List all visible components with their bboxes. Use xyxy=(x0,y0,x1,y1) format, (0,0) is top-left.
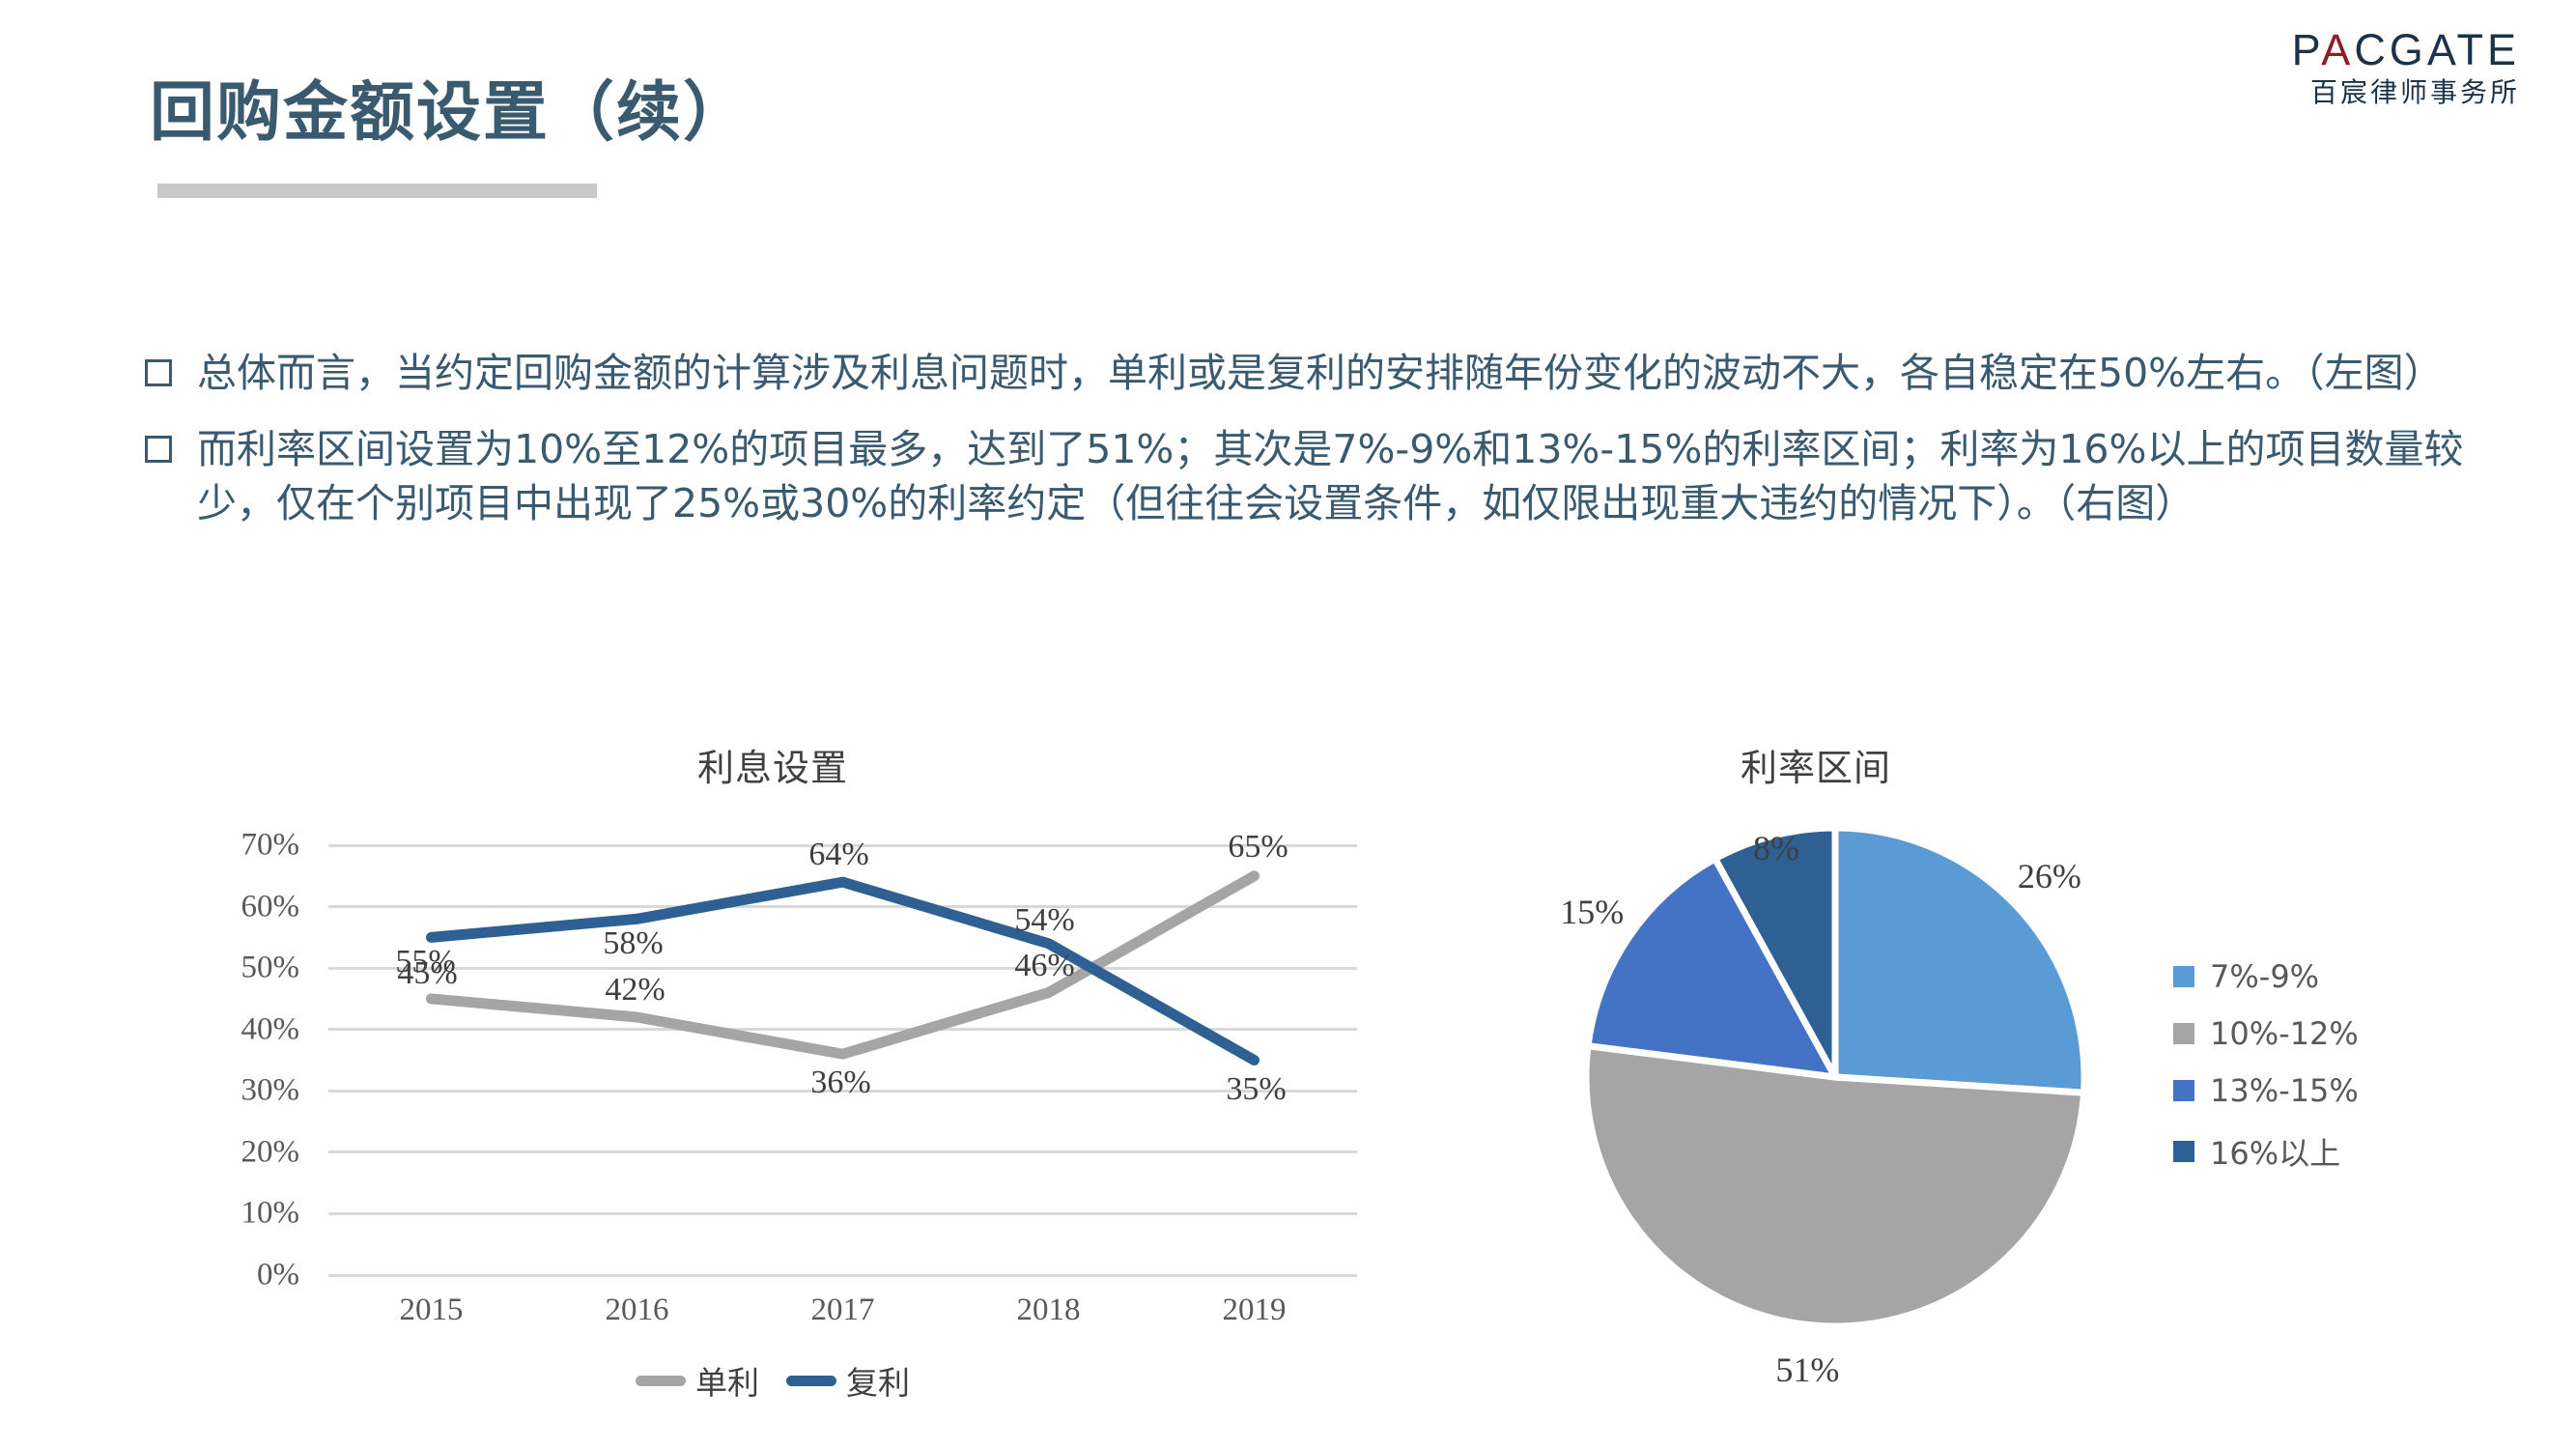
line-chart-series-svg xyxy=(328,845,1357,1275)
legend-label: 13%-15% xyxy=(2210,1072,2359,1109)
legend-item-7%-9%[interactable]: 7%-9% xyxy=(2173,958,2359,995)
logo-word-after: CGATE xyxy=(2354,25,2520,74)
pie-chart-plot-area: 26%51%15%8% xyxy=(1565,821,2106,1333)
bullet-item: 而利率区间设置为10%至12%的项目最多，达到了51%；其次是7%-9%和13%… xyxy=(145,422,2492,531)
pie-chart: 利率区间 26%51%15%8% 7%-9%10%-12%13%-15%16%以… xyxy=(1507,734,2492,1401)
y-axis-tick-label: 30% xyxy=(241,1073,300,1109)
y-axis-tick-label: 60% xyxy=(241,889,300,924)
legend-item-复利[interactable]: 复利 xyxy=(786,1357,910,1404)
legend-swatch-icon xyxy=(636,1376,686,1386)
legend-label: 复利 xyxy=(846,1357,910,1404)
y-axis-tick-label: 10% xyxy=(241,1196,300,1232)
pie-chart-legend: 7%-9%10%-12%13%-15%16%以上 xyxy=(2173,958,2359,1194)
hollow-square-bullet-icon xyxy=(145,436,172,463)
charts-area: 利息设置 0%10%20%30%40%50%60%70% 45%42%36%46… xyxy=(0,734,2576,1410)
legend-swatch-icon xyxy=(786,1376,836,1386)
legend-swatch-icon xyxy=(2173,966,2194,987)
x-axis-tick-label: 2015 xyxy=(400,1293,464,1328)
pie-slice-label: 51% xyxy=(1775,1350,1839,1390)
pie-slice-label: 26% xyxy=(2018,856,2081,896)
legend-label: 10%-12% xyxy=(2210,1015,2359,1052)
x-axis-tick-label: 2019 xyxy=(1223,1293,1287,1328)
y-axis-tick-label: 70% xyxy=(241,828,300,864)
line-series-复利 xyxy=(432,882,1255,1060)
x-axis-tick-label: 2018 xyxy=(1017,1293,1081,1328)
logo-chinese-name: 百宸律师事务所 xyxy=(2292,78,2520,108)
pie-slice-10%-12%[interactable] xyxy=(1586,1046,2083,1326)
line-chart-legend: 单利复利 xyxy=(174,1357,1372,1404)
pie-slice-label: 15% xyxy=(1560,892,1624,932)
legend-item-单利[interactable]: 单利 xyxy=(636,1357,759,1404)
pie-slice-label: 8% xyxy=(1753,828,1799,868)
logo-word-before: P xyxy=(2292,25,2322,74)
slide: PACGATE 百宸律师事务所 回购金额设置（续） 总体而言，当约定回购金额的计… xyxy=(0,0,2576,1449)
legend-swatch-icon xyxy=(2173,1141,2194,1162)
legend-label: 单利 xyxy=(695,1357,759,1404)
legend-item-16%以上[interactable]: 16%以上 xyxy=(2173,1129,2359,1174)
legend-swatch-icon xyxy=(2173,1023,2194,1044)
bullet-text: 总体而言，当约定回购金额的计算涉及利息问题时，单利或是复利的安排随年份变化的波动… xyxy=(197,346,2444,401)
logo-word-accent: A xyxy=(2321,25,2354,74)
legend-label: 7%-9% xyxy=(2210,958,2319,995)
x-axis-tick-label: 2016 xyxy=(606,1293,669,1328)
y-axis-tick-label: 0% xyxy=(257,1258,299,1293)
line-series-单利 xyxy=(432,876,1255,1054)
legend-item-13%-15%[interactable]: 13%-15% xyxy=(2173,1072,2359,1109)
x-axis-tick-label: 2017 xyxy=(811,1293,875,1328)
legend-item-10%-12%[interactable]: 10%-12% xyxy=(2173,1015,2359,1052)
logo-wordmark: PACGATE xyxy=(2292,27,2520,72)
pie-chart-title: 利率区间 xyxy=(1507,738,2125,791)
title-underline-bar xyxy=(157,184,597,198)
legend-swatch-icon xyxy=(2173,1080,2194,1101)
y-axis-tick-label: 50% xyxy=(241,951,300,986)
page-title: 回购金额设置（续） xyxy=(150,60,750,154)
line-chart-plot-area: 45%42%36%46%65%55%58%64%54%35% xyxy=(328,845,1357,1275)
body-content: 总体而言，当约定回购金额的计算涉及利息问题时，单利或是复利的安排随年份变化的波动… xyxy=(145,346,2492,553)
bullet-item: 总体而言，当约定回购金额的计算涉及利息问题时，单利或是复利的安排随年份变化的波动… xyxy=(145,346,2492,401)
y-axis-tick-label: 20% xyxy=(241,1134,300,1170)
company-logo: PACGATE 百宸律师事务所 xyxy=(2292,27,2520,108)
legend-label: 16%以上 xyxy=(2210,1129,2340,1174)
pie-chart-slices-svg xyxy=(1565,821,2106,1333)
bullet-text: 而利率区间设置为10%至12%的项目最多，达到了51%；其次是7%-9%和13%… xyxy=(197,422,2492,531)
line-chart-y-axis-labels: 0%10%20%30%40%50%60%70% xyxy=(172,845,317,1275)
line-chart: 利息设置 0%10%20%30%40%50%60%70% 45%42%36%46… xyxy=(174,734,1372,1401)
hollow-square-bullet-icon xyxy=(145,359,172,386)
y-axis-tick-label: 40% xyxy=(241,1011,300,1047)
line-chart-title: 利息设置 xyxy=(174,738,1372,791)
